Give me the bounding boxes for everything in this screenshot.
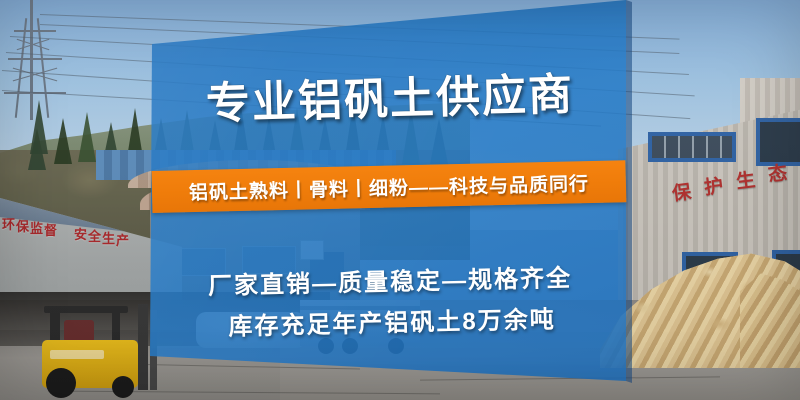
tagline-line-2: 库存充足年产铝矾土8万余吨 [152, 298, 633, 344]
sub-banner: 铝矾土熟料丨骨料丨细粉——科技与品质同行 [152, 160, 627, 213]
sub-banner-text: 铝矾土熟料丨骨料丨细粉——科技与品质同行 [189, 169, 590, 205]
banner-content: 专业铝矾土供应商 铝矾土熟料丨骨料丨细粉——科技与品质同行 厂家直销—质量稳定—… [0, 0, 800, 400]
banner-image: 环 保 监 督 安 全 生 产 保 护 生 态 [0, 0, 800, 400]
headline: 专业铝矾土供应商 [150, 72, 631, 129]
tagline-line-1: 厂家直销—质量稳定—规格齐全 [150, 257, 631, 303]
